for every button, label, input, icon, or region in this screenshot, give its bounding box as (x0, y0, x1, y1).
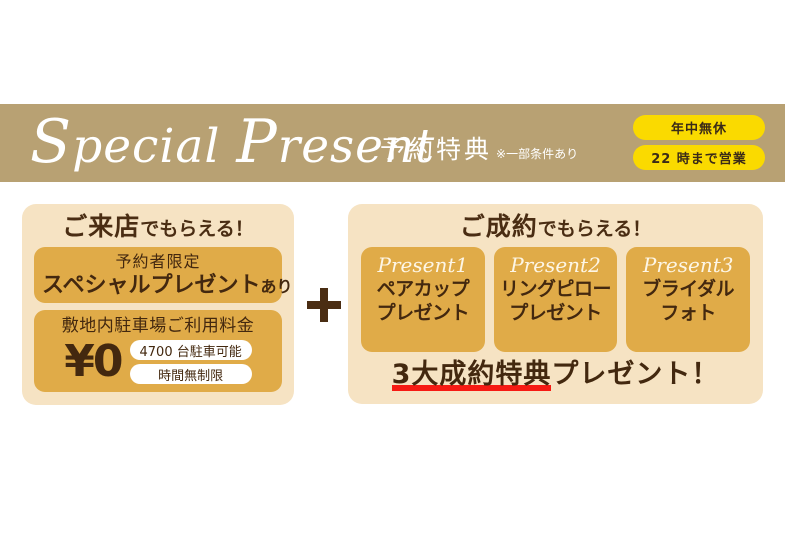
visit-benefits-panel: ご来店でもらえる！ 予約者限定 スペシャルプレゼントあり 敷地内駐車場ご利用料金… (22, 204, 294, 405)
present-card-2-name-line2: プレゼント (494, 301, 618, 325)
header-badges: 年中無休 22 時まで営業 (633, 115, 765, 170)
present-card-1-ordinal: Present1 (361, 253, 485, 277)
contract-footline-rest: プレゼント！ (551, 359, 719, 390)
brand-title-cap-s: S (30, 107, 72, 177)
header-subtitle-note: ※一部条件あり (496, 145, 578, 162)
parking-pill-group: 4700 台駐車可能 時間無制限 (130, 340, 252, 384)
parking-fee-title: 敷地内駐車場ご利用料金 (42, 315, 274, 337)
present-card-row: Present1 ペアカップ プレゼント Present2 リングピロー プレゼ… (361, 247, 750, 352)
parking-fee-row: ¥0 4700 台駐車可能 時間無制限 (42, 338, 274, 386)
content-area: ご来店でもらえる！ 予約者限定 スペシャルプレゼントあり 敷地内駐車場ご利用料金… (0, 200, 785, 410)
special-present-box: 予約者限定 スペシャルプレゼントあり (34, 247, 282, 303)
contract-benefits-heading: ご成約でもらえる！ (361, 214, 750, 239)
visit-benefits-heading: ご来店でもらえる！ (34, 214, 282, 239)
visit-benefits-heading-small: でもらえる！ (140, 218, 253, 240)
brand-title-cap-p: P (236, 107, 277, 177)
parking-fee-box: 敷地内駐車場ご利用料金 ¥0 4700 台駐車可能 時間無制限 (34, 310, 282, 392)
parking-fee-price: ¥0 (64, 338, 121, 386)
contract-benefits-heading-big: ご成約 (460, 212, 538, 241)
header-inner: Special Present 予約特典 ※一部条件あり 年中無休 22 時まで… (0, 104, 785, 182)
brand-title: Special Present (30, 112, 435, 177)
present-card-3[interactable]: Present3 ブライダル フォト (626, 247, 750, 352)
parking-pill-capacity: 4700 台駐車可能 (130, 340, 252, 360)
brand-title-rest1: pecial (72, 119, 236, 174)
contract-benefits-heading-small: でもらえる！ (538, 218, 651, 240)
contract-footline-marked: 3大成約特典 (392, 359, 552, 391)
present-card-3-ordinal: Present3 (626, 253, 750, 277)
contract-footline: 3大成約特典プレゼント！ (361, 359, 750, 391)
present-card-1[interactable]: Present1 ペアカップ プレゼント (361, 247, 485, 352)
present-card-2-name-line1: リングピロー (494, 277, 618, 301)
special-present-line1: 予約者限定 (42, 252, 274, 272)
present-card-2-ordinal: Present2 (494, 253, 618, 277)
header-subtitle: 予約特典 (380, 130, 492, 166)
header-band: Special Present 予約特典 ※一部条件あり 年中無休 22 時まで… (0, 104, 785, 182)
parking-pill-unlimited-time: 時間無制限 (130, 364, 252, 384)
special-present-line2-suffix: あり (260, 277, 292, 296)
badge-open-until-22[interactable]: 22 時まで営業 (633, 145, 765, 170)
present-card-3-name-line2: フォト (626, 301, 750, 325)
present-card-1-name-line2: プレゼント (361, 301, 485, 325)
header-subtitle-group: 予約特典 ※一部条件あり (380, 130, 578, 166)
present-card-3-name-line1: ブライダル (626, 277, 750, 301)
visit-benefits-heading-big: ご来店 (62, 212, 140, 241)
special-present-line2: スペシャルプレゼントあり (42, 272, 274, 301)
special-present-line2-main: スペシャルプレゼント (42, 273, 260, 298)
present-card-1-name-line1: ペアカップ (361, 277, 485, 301)
plus-icon (307, 288, 341, 322)
present-card-2[interactable]: Present2 リングピロー プレゼント (494, 247, 618, 352)
badge-open-year-round[interactable]: 年中無休 (633, 115, 765, 140)
contract-benefits-panel: ご成約でもらえる！ Present1 ペアカップ プレゼント Present2 … (348, 204, 763, 404)
